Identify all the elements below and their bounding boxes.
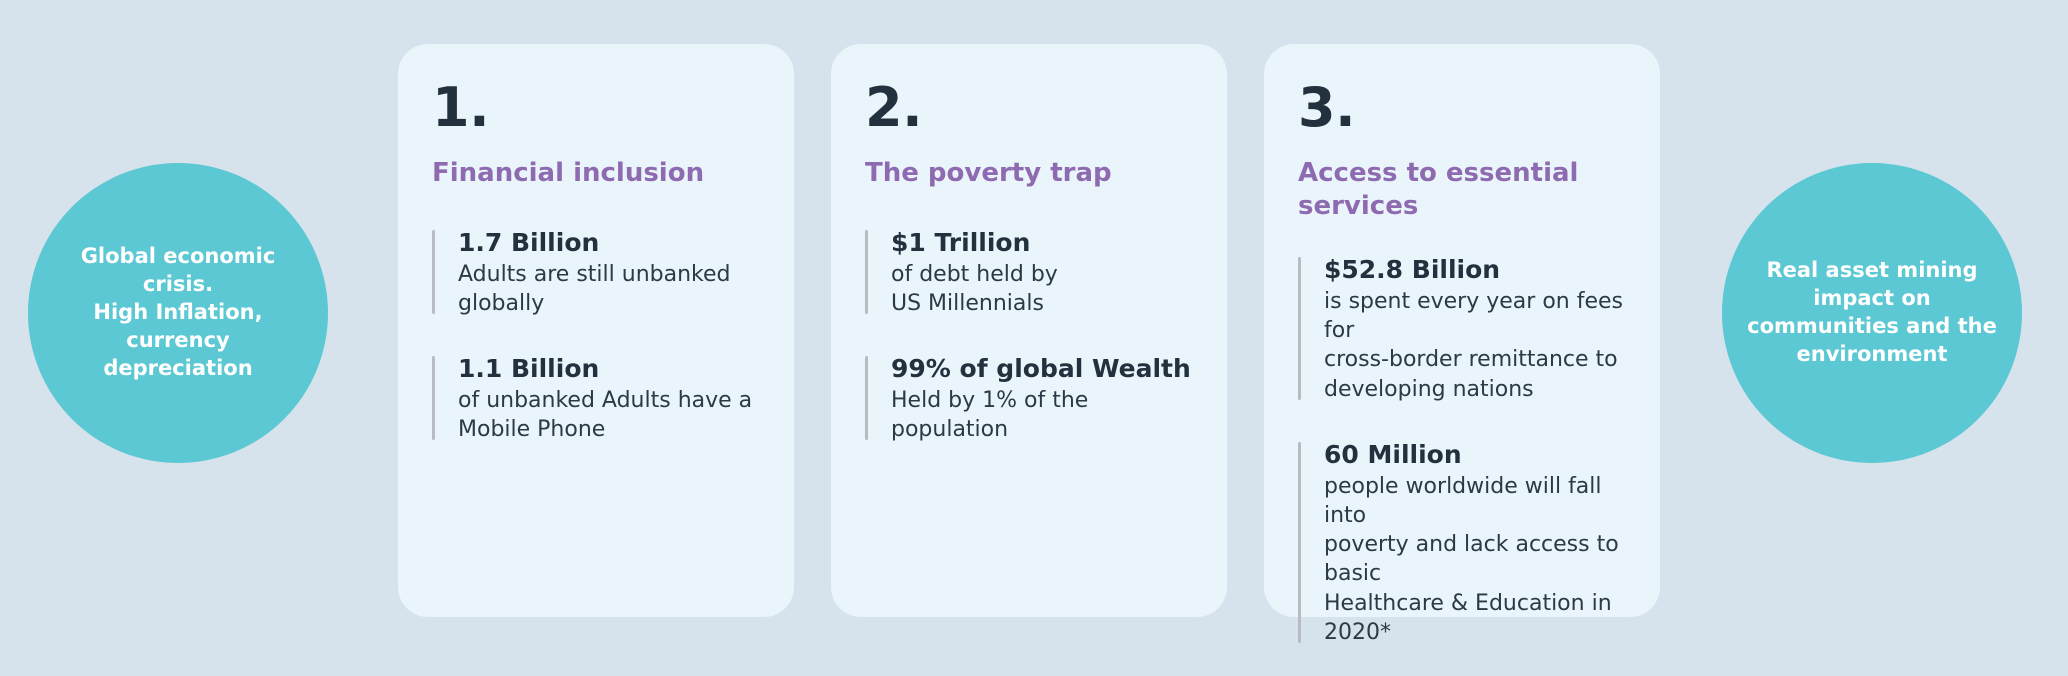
cards-row: 1. Financial inclusion 1.7 Billion Adult…	[398, 44, 1660, 617]
right-context-circle: Real asset mining impact on communities …	[1722, 163, 2022, 463]
stat-description: of debt held by US Millennials	[891, 260, 1193, 319]
stat-description: people worldwide will fall into poverty …	[1324, 472, 1626, 648]
stat-value: 1.7 Billion	[458, 226, 760, 260]
stat-item: 60 Million people worldwide will fall in…	[1298, 438, 1626, 647]
stat-item: 99% of global Wealth Held by 1% of the p…	[865, 352, 1193, 444]
left-context-circle: Global economic crisis. High Inflation, …	[28, 163, 328, 463]
card-number: 3.	[1298, 80, 1626, 137]
left-circle-text: Global economic crisis. High Inflation, …	[63, 243, 294, 383]
card-title: Financial inclusion	[432, 157, 760, 190]
stat-value: 1.1 Billion	[458, 352, 760, 386]
stat-value: 99% of global Wealth	[891, 352, 1193, 386]
card-title: The poverty trap	[865, 157, 1193, 190]
stat-description: of unbanked Adults have a Mobile Phone	[458, 386, 760, 445]
card-access-to-essential-services[interactable]: 3. Access to essential services $52.8 Bi…	[1264, 44, 1660, 617]
stat-description: Adults are still unbanked globally	[458, 260, 760, 319]
card-number: 2.	[865, 80, 1193, 137]
card-financial-inclusion[interactable]: 1. Financial inclusion 1.7 Billion Adult…	[398, 44, 794, 617]
right-circle-text: Real asset mining impact on communities …	[1729, 257, 2015, 369]
stat-item: 1.7 Billion Adults are still unbanked gl…	[432, 226, 760, 318]
card-number: 1.	[432, 80, 760, 137]
card-title: Access to essential services	[1298, 157, 1626, 224]
stat-list: 1.7 Billion Adults are still unbanked gl…	[432, 226, 760, 445]
stat-description: is spent every year on fees for cross-bo…	[1324, 287, 1626, 404]
stat-item: $1 Trillion of debt held by US Millennia…	[865, 226, 1193, 318]
stat-item: $52.8 Billion is spent every year on fee…	[1298, 253, 1626, 404]
stat-value: $1 Trillion	[891, 226, 1193, 260]
stat-value: $52.8 Billion	[1324, 253, 1626, 287]
stat-list: $1 Trillion of debt held by US Millennia…	[865, 226, 1193, 445]
stat-item: 1.1 Billion of unbanked Adults have a Mo…	[432, 352, 760, 444]
stat-value: 60 Million	[1324, 438, 1626, 472]
infographic-canvas: Global economic crisis. High Inflation, …	[0, 0, 2068, 676]
stat-list: $52.8 Billion is spent every year on fee…	[1298, 253, 1626, 647]
stat-description: Held by 1% of the population	[891, 386, 1193, 445]
card-poverty-trap[interactable]: 2. The poverty trap $1 Trillion of debt …	[831, 44, 1227, 617]
